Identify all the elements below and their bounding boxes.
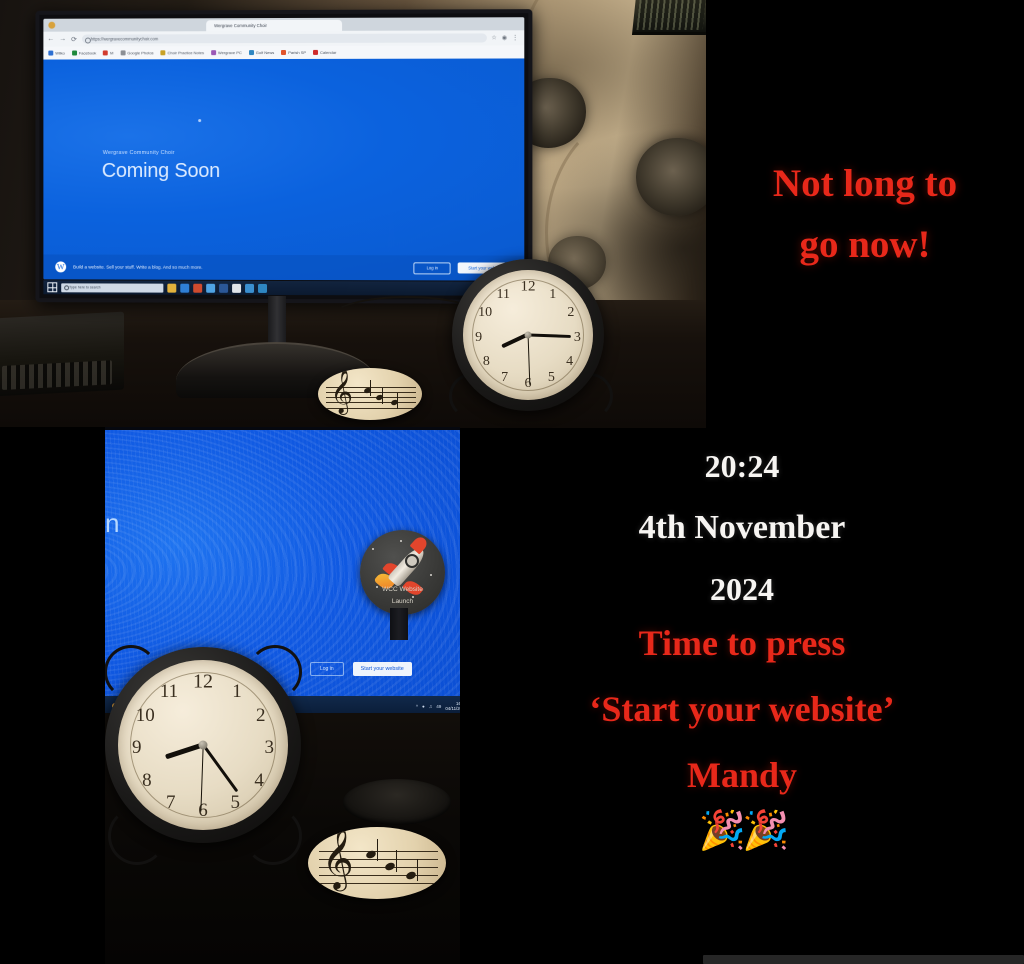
coming-soon-page: Wergrave Community Choir Coming Soon W B… — [43, 58, 524, 280]
button-quote-line: ‘Start your website’ — [589, 688, 894, 730]
taskbar-icon-word[interactable] — [219, 283, 228, 292]
favicon-icon — [120, 50, 125, 55]
lamp-shade — [632, 0, 706, 35]
bookmark-item[interactable]: Parish SP — [281, 50, 306, 55]
network-icon[interactable]: ● — [422, 704, 425, 709]
clock-numeral: 1 — [232, 681, 242, 703]
chevron-up-icon[interactable]: ^ — [416, 704, 418, 709]
clock-numeral: 8 — [483, 354, 490, 370]
reload-icon[interactable]: ⟳ — [71, 35, 78, 43]
favicon-icon — [161, 50, 166, 55]
taskbar-icon-store[interactable] — [258, 283, 267, 292]
bookmark-item[interactable]: Facebook — [72, 50, 96, 55]
bookmark-item[interactable]: Google Photos — [120, 50, 153, 55]
badge-text-line-2: Launch — [360, 598, 445, 606]
coming-soon-heading: Coming Soon — [102, 160, 220, 183]
battery-level: 49 — [436, 704, 441, 709]
taskbar-icon-chrome[interactable] — [232, 283, 241, 292]
favicon-icon — [103, 50, 108, 55]
clock-face: 12 1 2 3 4 5 6 7 8 9 10 11 — [463, 270, 593, 400]
browser-tab[interactable]: Wergrave Community Choir — [206, 20, 342, 31]
signature-line: Mandy — [687, 754, 797, 796]
bookmark-item[interactable]: M — [103, 50, 113, 55]
time-line: 20:24 — [705, 448, 780, 485]
address-bar[interactable]: https://wergravecommunitychoir.com — [82, 33, 487, 43]
browser-toolbar-right[interactable]: ☆ ◉ ⋮ — [491, 34, 520, 41]
bottom-photo: n WCC Website Launch Log in — [105, 427, 460, 964]
laptop-on-desk — [0, 312, 124, 397]
music-note-stem — [396, 850, 397, 872]
music-coaster: 𝄞 — [318, 368, 422, 420]
clock-center-pin — [199, 741, 208, 750]
clock-numeral: 12 — [193, 671, 213, 694]
browser-window[interactable]: Wergrave Community Choir ← → ⟳ https://w… — [43, 17, 524, 280]
clock-numeral: 7 — [501, 370, 508, 386]
favicon-icon — [211, 50, 216, 55]
clock-face: 12 1 2 3 4 5 6 7 8 9 10 11 — [118, 660, 288, 830]
extensions-icon[interactable]: ◉ — [502, 34, 507, 41]
music-note-stem — [370, 380, 371, 396]
headline-line-2: go now! — [799, 225, 930, 264]
bottom-progress-bar[interactable] — [703, 955, 1024, 964]
bookmark-item[interactable]: Choir Practice Notes — [161, 50, 204, 55]
clock-numeral: 10 — [478, 305, 492, 321]
party-popper-emoji: 🎉🎉 — [699, 812, 786, 850]
favicon-icon — [313, 50, 318, 55]
forward-icon[interactable]: → — [59, 36, 67, 43]
mantel-clock: 12 1 2 3 4 5 6 7 8 9 10 11 — [105, 621, 312, 879]
back-icon[interactable]: ← — [47, 36, 55, 43]
favicon-icon — [281, 50, 286, 55]
music-note-stem — [417, 859, 418, 881]
top-photo: Wergrave Community Choir ← → ⟳ https://w… — [0, 0, 706, 428]
taskbar-icon-teams[interactable] — [206, 283, 215, 292]
clock-numeral: 6 — [525, 376, 532, 392]
clock-numeral: 11 — [497, 287, 510, 303]
menu-icon[interactable]: ⋮ — [512, 34, 518, 41]
favicon-icon — [249, 50, 254, 55]
volume-icon[interactable]: ♫ — [429, 704, 432, 709]
rocket-window-icon — [405, 554, 419, 568]
taskbar-icon-edge[interactable] — [180, 283, 189, 292]
badge-stick — [390, 608, 408, 640]
music-note-stem — [382, 388, 383, 404]
music-note-stem — [377, 839, 378, 861]
music-note-stem — [397, 393, 398, 409]
taskbar-clock[interactable]: 16:48 04/11/2024 — [445, 701, 460, 712]
caption-panel: 20:24 4th November 2024 Time to press ‘S… — [460, 428, 1024, 964]
music-coaster: 𝄞 — [308, 827, 446, 899]
clock-numeral: 8 — [142, 770, 152, 792]
browser-profile-icon[interactable] — [48, 22, 55, 29]
bookmark-item[interactable]: Wergrave PC — [211, 50, 242, 55]
clock-numeral: 7 — [166, 792, 176, 814]
collage-canvas: Wergrave Community Choir ← → ⟳ https://w… — [0, 0, 1024, 964]
taskbar-tray[interactable]: ^ ● ♫ 49 16:48 04/11/2024 — [416, 701, 460, 712]
clock-numeral: 5 — [231, 792, 241, 814]
treble-clef-icon: 𝄞 — [330, 373, 352, 411]
taskbar-search-input[interactable]: Type here to search — [61, 283, 163, 292]
clock-numeral: 11 — [160, 681, 178, 703]
clock-numeral: 12 — [521, 278, 536, 295]
partial-heading-letter: n — [105, 508, 119, 539]
favicon-icon — [72, 51, 77, 56]
music-note — [405, 870, 417, 880]
date-line: 4th November — [639, 509, 846, 547]
login-button[interactable]: Log in — [310, 662, 344, 676]
press-line: Time to press — [639, 622, 846, 664]
monitor-stand-neck — [268, 296, 286, 346]
taskbar-icon-folder[interactable] — [245, 283, 254, 292]
clock-numeral: 2 — [256, 705, 266, 727]
browser-toolbar[interactable]: ← → ⟳ https://wergravecommunitychoir.com… — [43, 30, 524, 46]
page-button-row: Log in Start your website — [310, 662, 412, 676]
wallpaper-flower-2 — [636, 138, 706, 216]
clock-numeral: 10 — [136, 705, 155, 727]
saucer-dish — [343, 779, 451, 825]
bookmark-item[interactable]: Calendar — [313, 50, 336, 55]
mantel-clock: 12 1 2 3 4 5 6 7 8 9 10 11 — [443, 255, 611, 428]
rocket-launch-badge: WCC Website Launch — [360, 530, 445, 615]
start-your-website-button[interactable]: Start your website — [353, 662, 412, 676]
clock-numeral: 9 — [132, 737, 142, 759]
clock-center-pin — [525, 332, 532, 339]
screen-speck — [198, 119, 201, 122]
bookmark-item[interactable]: Golf News — [249, 50, 274, 55]
clock-numeral: 5 — [548, 370, 555, 386]
clock-numeral: 3 — [574, 330, 581, 346]
clock-numeral: 1 — [549, 287, 556, 303]
taskbar-icon-mail[interactable] — [193, 283, 202, 292]
headline-panel: Not long to go now! — [706, 0, 1024, 428]
taskbar-icon-explorer[interactable] — [167, 283, 176, 292]
treble-clef-icon: 𝄞 — [322, 831, 354, 885]
favicon-icon — [48, 51, 53, 56]
start-button-icon[interactable] — [47, 282, 57, 292]
taskbar-clock-date: 04/11/2024 — [445, 706, 460, 712]
clock-numeral: 2 — [567, 305, 574, 321]
bookmark-item[interactable]: Wilko — [48, 51, 65, 56]
badge-text-line-1: WCC Website — [360, 586, 445, 594]
clock-numeral: 4 — [566, 354, 573, 370]
left-black-filler — [0, 427, 105, 964]
clock-numeral: 4 — [254, 770, 264, 792]
clock-numeral: 9 — [475, 330, 482, 346]
year-line: 2024 — [710, 571, 774, 608]
wordpress-logo-icon: W — [55, 261, 66, 272]
clock-numeral: 3 — [265, 737, 275, 759]
music-note — [384, 861, 396, 871]
footer-spacer — [209, 267, 406, 268]
star-icon[interactable]: ☆ — [491, 34, 496, 41]
headline-line-1: Not long to — [773, 164, 957, 203]
wordpress-tagline: Build a website. Sell your stuff. Write … — [73, 264, 202, 269]
site-name: Wergrave Community Choir — [103, 150, 175, 156]
